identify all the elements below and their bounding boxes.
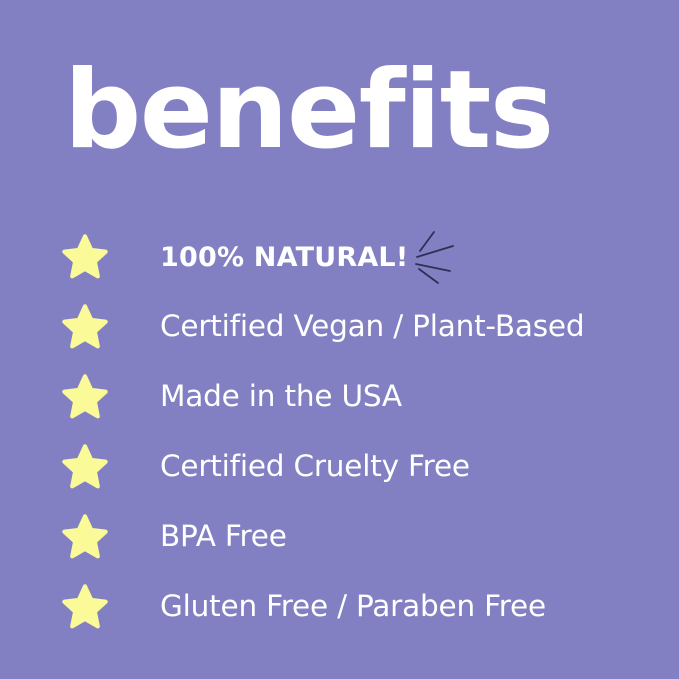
sparkle-decoration [408,226,471,288]
benefit-bullet [0,234,160,280]
benefit-item: 100% NATURAL! [0,222,679,292]
star-icon [62,514,108,560]
benefits-poster: benefits 100% NATURAL!Certified Vegan / … [0,0,679,679]
benefit-bullet [0,514,160,560]
benefits-list: 100% NATURAL!Certified Vegan / Plant-Bas… [0,222,679,642]
star-icon [62,234,108,280]
benefit-bullet [0,584,160,630]
benefit-item-label: Made in the USA [160,382,402,412]
star-icon [62,374,108,420]
star-icon [62,584,108,630]
benefit-item-label: Certified Vegan / Plant-Based [160,312,584,342]
benefit-bullet [0,444,160,490]
star-icon [62,444,108,490]
benefit-item: Certified Vegan / Plant-Based [0,292,679,362]
benefit-item-label: Gluten Free / Paraben Free [160,592,546,622]
benefit-item: Made in the USA [0,362,679,432]
benefit-item-label: BPA Free [160,522,287,552]
star-icon [62,304,108,350]
benefit-item-label: Certified Cruelty Free [160,452,470,482]
sparkle-burst-icon [413,226,471,288]
benefit-item: BPA Free [0,502,679,572]
benefit-bullet [0,374,160,420]
benefit-item: Gluten Free / Paraben Free [0,572,679,642]
benefit-item-label: 100% NATURAL! [160,244,408,271]
benefit-item: Certified Cruelty Free [0,432,679,502]
benefit-bullet [0,304,160,350]
page-title: benefits [64,57,553,165]
